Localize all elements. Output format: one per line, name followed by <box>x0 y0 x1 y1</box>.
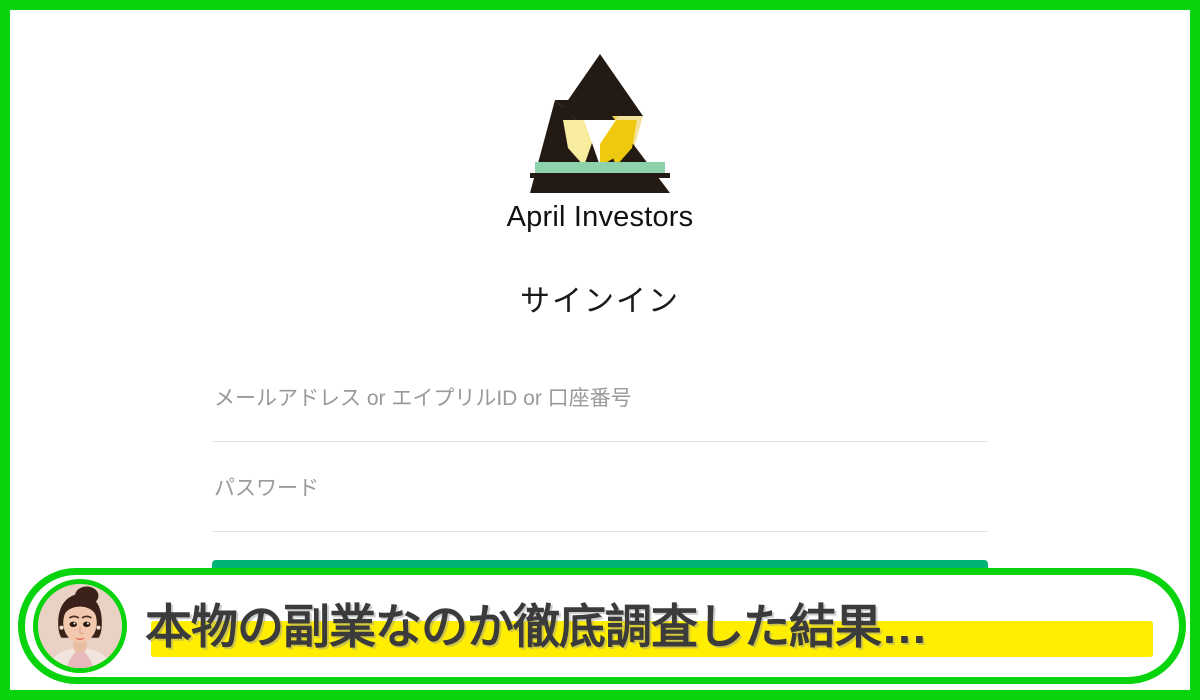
avatar <box>33 579 127 673</box>
password-input[interactable] <box>212 470 988 503</box>
banner-text-container: 本物の副業なのか徹底調査した結果… <box>127 575 1179 677</box>
woman-portrait-icon <box>38 584 122 668</box>
page-title: サインイン <box>520 276 680 320</box>
page-frame: April Investors サインイン <box>0 0 1200 700</box>
password-field[interactable] <box>212 470 988 532</box>
pyramid-diamond-icon <box>510 48 690 198</box>
account-identifier-field[interactable] <box>212 380 988 442</box>
signin-page: April Investors サインイン <box>10 10 1190 570</box>
brand-name: April Investors <box>507 202 694 234</box>
account-identifier-input[interactable] <box>212 380 988 413</box>
promo-banner[interactable]: 本物の副業なのか徹底調査した結果… <box>18 568 1186 684</box>
banner-headline: 本物の副業なのか徹底調査した結果… <box>145 603 927 650</box>
brand-logo <box>510 48 690 198</box>
